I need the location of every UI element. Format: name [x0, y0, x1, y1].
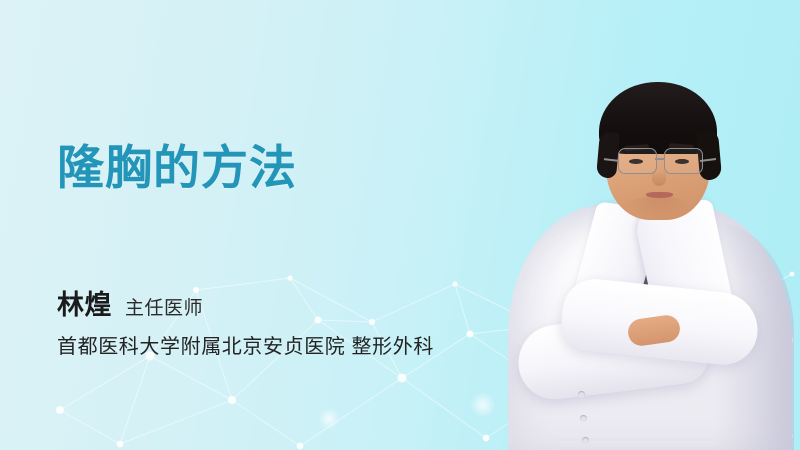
- doctor-name: 林煌: [57, 283, 112, 322]
- hair-sideburn-left: [596, 131, 620, 179]
- eyeglasses-bridge: [655, 158, 664, 160]
- nose: [652, 170, 666, 186]
- bokeh-glow: [470, 392, 496, 418]
- doctor-affiliation: 首都医科大学附属北京安贞医院 整形外科: [57, 330, 434, 359]
- doctor-identity: 林煌 主任医师: [57, 283, 203, 322]
- doctor-rank: 主任医师: [125, 293, 203, 320]
- lab-coat-button: [580, 415, 587, 422]
- mouth: [646, 192, 673, 198]
- portrait-alt-text: 男医生 白大褂 眼镜 双臂交叉: [500, 0, 501, 1]
- lab-coat-button: [582, 437, 589, 444]
- lab-coat-button: [578, 391, 585, 398]
- page-title: 隆胸的方法: [57, 142, 297, 194]
- bokeh-glow: [318, 408, 340, 430]
- video-cover-card: 隆胸的方法 林煌 主任医师 首都医科大学附属北京安贞医院 整形外科 男医生 白大…: [0, 0, 800, 450]
- chin-shading: [626, 196, 690, 218]
- doctor-portrait: 男医生 白大褂 眼镜 双臂交叉: [500, 0, 800, 450]
- eyeglasses-lens-right: [664, 148, 703, 174]
